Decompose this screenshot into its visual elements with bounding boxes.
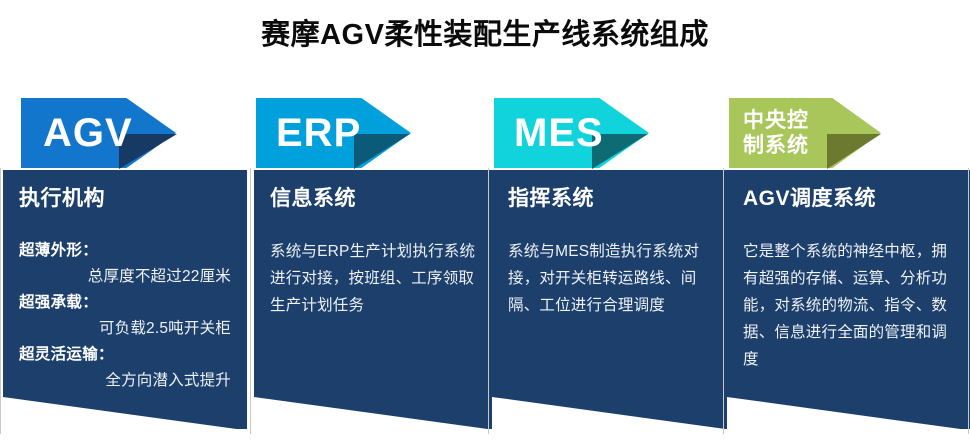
arrow-shadow-triangle xyxy=(592,134,648,169)
system-column-agv[interactable]: AGV 执行机构 超薄外形： 总厚度不超过22厘米 超强承载： 可负载2.5吨开… xyxy=(3,70,247,443)
title-bar: 赛摩AGV柔性装配生产线系统组成 xyxy=(0,0,970,70)
arrow-banner-erp[interactable]: ERP xyxy=(254,98,498,170)
system-column-mes[interactable]: MES 指挥系统 系统与MES制造执行系统对接，对开关柜转运路线、间隔、工位进行… xyxy=(492,70,736,443)
column-divider xyxy=(0,168,1,434)
arrow-banner-central-control[interactable]: 中央控 制系统 xyxy=(727,98,970,170)
panel-content: 指挥系统 系统与MES制造执行系统对接，对开关柜转运路线、间隔、工位进行合理调度 xyxy=(492,170,736,429)
arrow-banner-agv[interactable]: AGV xyxy=(3,98,247,170)
panel-heading: AGV调度系统 xyxy=(743,186,957,212)
panel-heading: 指挥系统 xyxy=(508,186,722,212)
panel-body-text: 系统与ERP生产计划执行系统进行对接，按班组、工序领取生产计划任务 xyxy=(270,238,484,319)
spec-value: 全方向潜入式提升 xyxy=(19,367,233,394)
spec-label: 超强承载： xyxy=(19,290,233,315)
system-column-erp[interactable]: ERP 信息系统 系统与ERP生产计划执行系统进行对接，按班组、工序领取生产计划… xyxy=(254,70,498,443)
panel-heading: 执行机构 xyxy=(19,186,233,212)
panel-body-text: 系统与MES制造执行系统对接，对开关柜转运路线、间隔、工位进行合理调度 xyxy=(508,238,722,319)
arrow-shadow-triangle xyxy=(354,134,410,169)
system-columns: AGV 执行机构 超薄外形： 总厚度不超过22厘米 超强承载： 可负载2.5吨开… xyxy=(0,70,970,443)
panel-content: AGV调度系统 它是整个系统的神经中枢，拥有超强的存储、运算、分析功能，对系统的… xyxy=(727,170,970,429)
spec-value: 可负载2.5吨开关柜 xyxy=(19,315,233,342)
panel-body-text: 它是整个系统的神经中枢，拥有超强的存储、运算、分析功能，对系统的物流、指令、数据… xyxy=(743,238,957,373)
system-column-central-control[interactable]: 中央控 制系统 AGV调度系统 它是整个系统的神经中枢，拥有超强的存储、运算、分… xyxy=(727,70,970,443)
spec-label: 超灵活运输： xyxy=(19,342,233,367)
panel-content: 执行机构 超薄外形： 总厚度不超过22厘米 超强承载： 可负载2.5吨开关柜 超… xyxy=(3,170,247,429)
spec-list: 超薄外形： 总厚度不超过22厘米 超强承载： 可负载2.5吨开关柜 超灵活运输：… xyxy=(19,238,233,394)
spec-value: 总厚度不超过22厘米 xyxy=(19,263,233,290)
arrow-shadow-triangle xyxy=(827,134,881,169)
page-title: 赛摩AGV柔性装配生产线系统组成 xyxy=(261,21,709,50)
column-divider xyxy=(250,168,251,434)
panel-heading: 信息系统 xyxy=(270,186,484,212)
panel-agv: 执行机构 超薄外形： 总厚度不超过22厘米 超强承载： 可负载2.5吨开关柜 超… xyxy=(3,170,247,429)
panel-erp: 信息系统 系统与ERP生产计划执行系统进行对接，按班组、工序领取生产计划任务 xyxy=(254,170,498,429)
panel-central-control: AGV调度系统 它是整个系统的神经中枢，拥有超强的存储、运算、分析功能，对系统的… xyxy=(727,170,970,429)
panel-content: 信息系统 系统与ERP生产计划执行系统进行对接，按班组、工序领取生产计划任务 xyxy=(254,170,498,429)
panel-mes: 指挥系统 系统与MES制造执行系统对接，对开关柜转运路线、间隔、工位进行合理调度 xyxy=(492,170,736,429)
arrow-banner-mes[interactable]: MES xyxy=(492,98,736,170)
arrow-shadow-triangle xyxy=(119,134,177,169)
spec-label: 超薄外形： xyxy=(19,238,233,263)
